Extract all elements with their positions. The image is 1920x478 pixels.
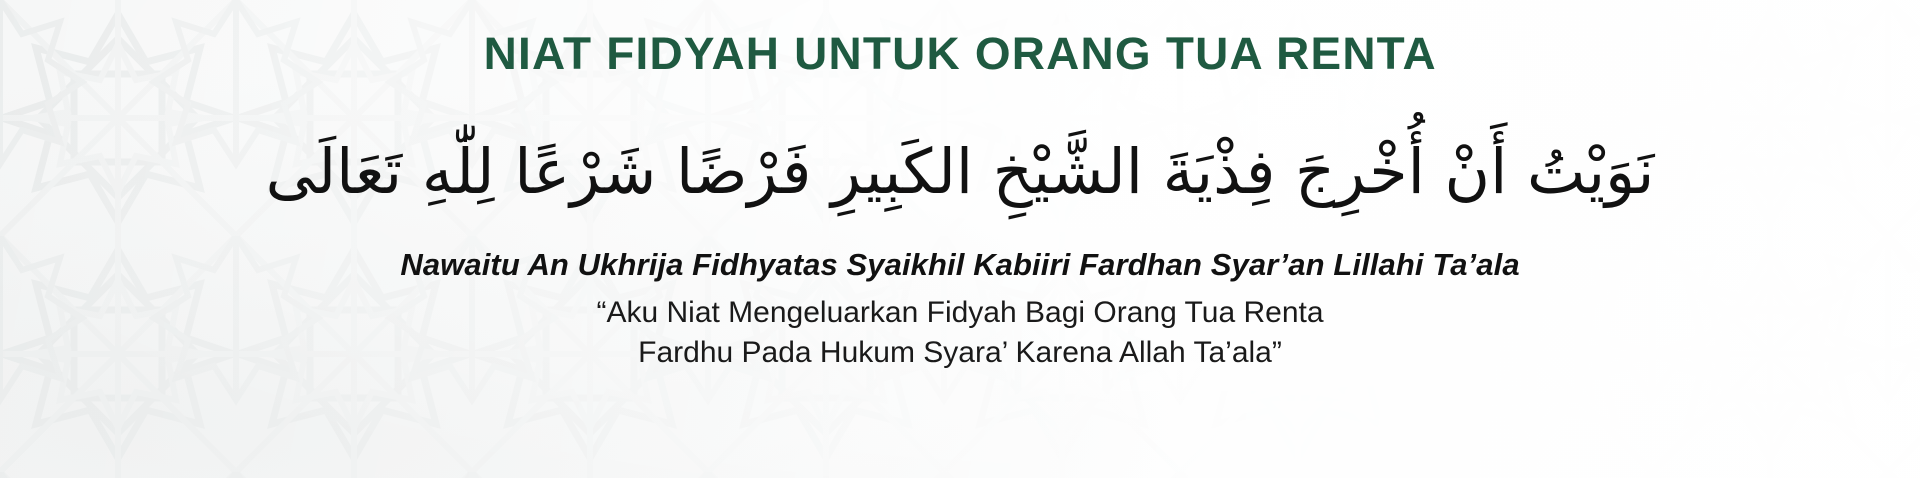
translation-block: “Aku Niat Mengeluarkan Fidyah Bagi Orang…: [596, 293, 1323, 372]
page-title: NIAT FIDYAH UNTUK ORANG TUA RENTA: [483, 30, 1436, 78]
translation-line-2: Fardhu Pada Hukum Syara’ Karena Allah Ta…: [596, 333, 1323, 373]
translation-line-1: “Aku Niat Mengeluarkan Fidyah Bagi Orang…: [596, 293, 1323, 333]
arabic-dua-text: نَوَيْتُ أَنْ أُخْرِجَ فِذْيَةَ الشَّيْخ…: [266, 124, 1655, 220]
banner-content: NIAT FIDYAH UNTUK ORANG TUA RENTA نَوَيْ…: [0, 0, 1920, 478]
transliteration-text: Nawaitu An Ukhrija Fidhyatas Syaikhil Ka…: [400, 246, 1519, 283]
fidyah-intention-banner: NIAT FIDYAH UNTUK ORANG TUA RENTA نَوَيْ…: [0, 0, 1920, 478]
